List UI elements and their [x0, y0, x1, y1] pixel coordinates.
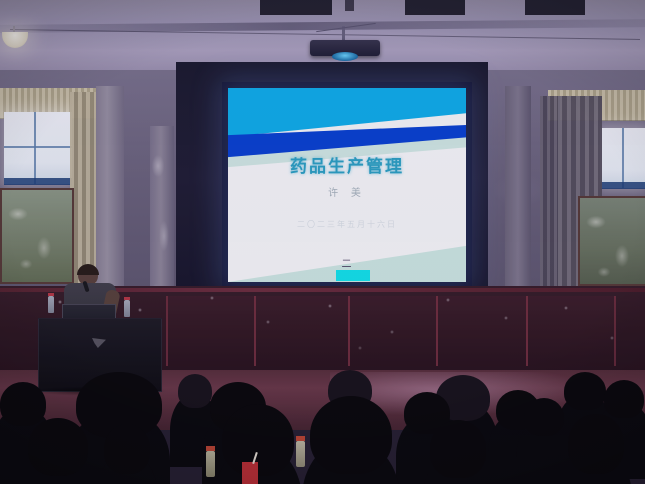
slide-title: 药品生产管理 — [228, 152, 466, 177]
audience-shoulders — [422, 452, 494, 484]
lecture-podium — [38, 318, 162, 392]
audience-head — [104, 424, 150, 474]
left-window — [4, 112, 72, 184]
slide-date: 二〇二三年五月十六日 — [228, 219, 466, 230]
slide-author: 许 美 — [228, 184, 466, 199]
juice-box — [242, 462, 258, 484]
projector-lens-icon — [332, 52, 358, 61]
ceiling-vent — [405, 0, 465, 15]
drinking-straw — [252, 452, 258, 464]
bottle-cap — [206, 446, 215, 451]
water-bottle — [48, 296, 54, 313]
audience-shoulders — [214, 444, 302, 484]
ceiling-vent — [525, 0, 585, 15]
right-window — [600, 128, 645, 188]
green-wall-panel — [578, 196, 645, 286]
podium-shadow — [30, 386, 168, 396]
audience-shoulders — [302, 439, 400, 484]
ceiling-vent — [345, 0, 354, 11]
window-sill — [600, 182, 645, 189]
water-bottle — [296, 441, 305, 467]
water-bottle — [124, 300, 130, 317]
audience-shoulders — [20, 450, 96, 484]
audience-shoulders — [96, 452, 158, 484]
slide-accent-chip — [336, 270, 370, 281]
water-bottle — [206, 451, 215, 477]
slide-footer-mark: 二 — [228, 255, 466, 270]
lecture-hall-scene: 药品生产管理 许 美 二〇二三年五月十六日 二 — [0, 0, 645, 484]
audience-shoulders — [560, 447, 632, 484]
projection-screen: 药品生产管理 许 美 二〇二三年五月十六日 二 — [228, 88, 466, 282]
ceiling-vent — [260, 0, 332, 15]
window-sill — [4, 178, 72, 185]
stage-floor-highlight — [330, 372, 590, 416]
bottle-cap — [296, 436, 305, 441]
green-wall-panel — [0, 188, 74, 284]
